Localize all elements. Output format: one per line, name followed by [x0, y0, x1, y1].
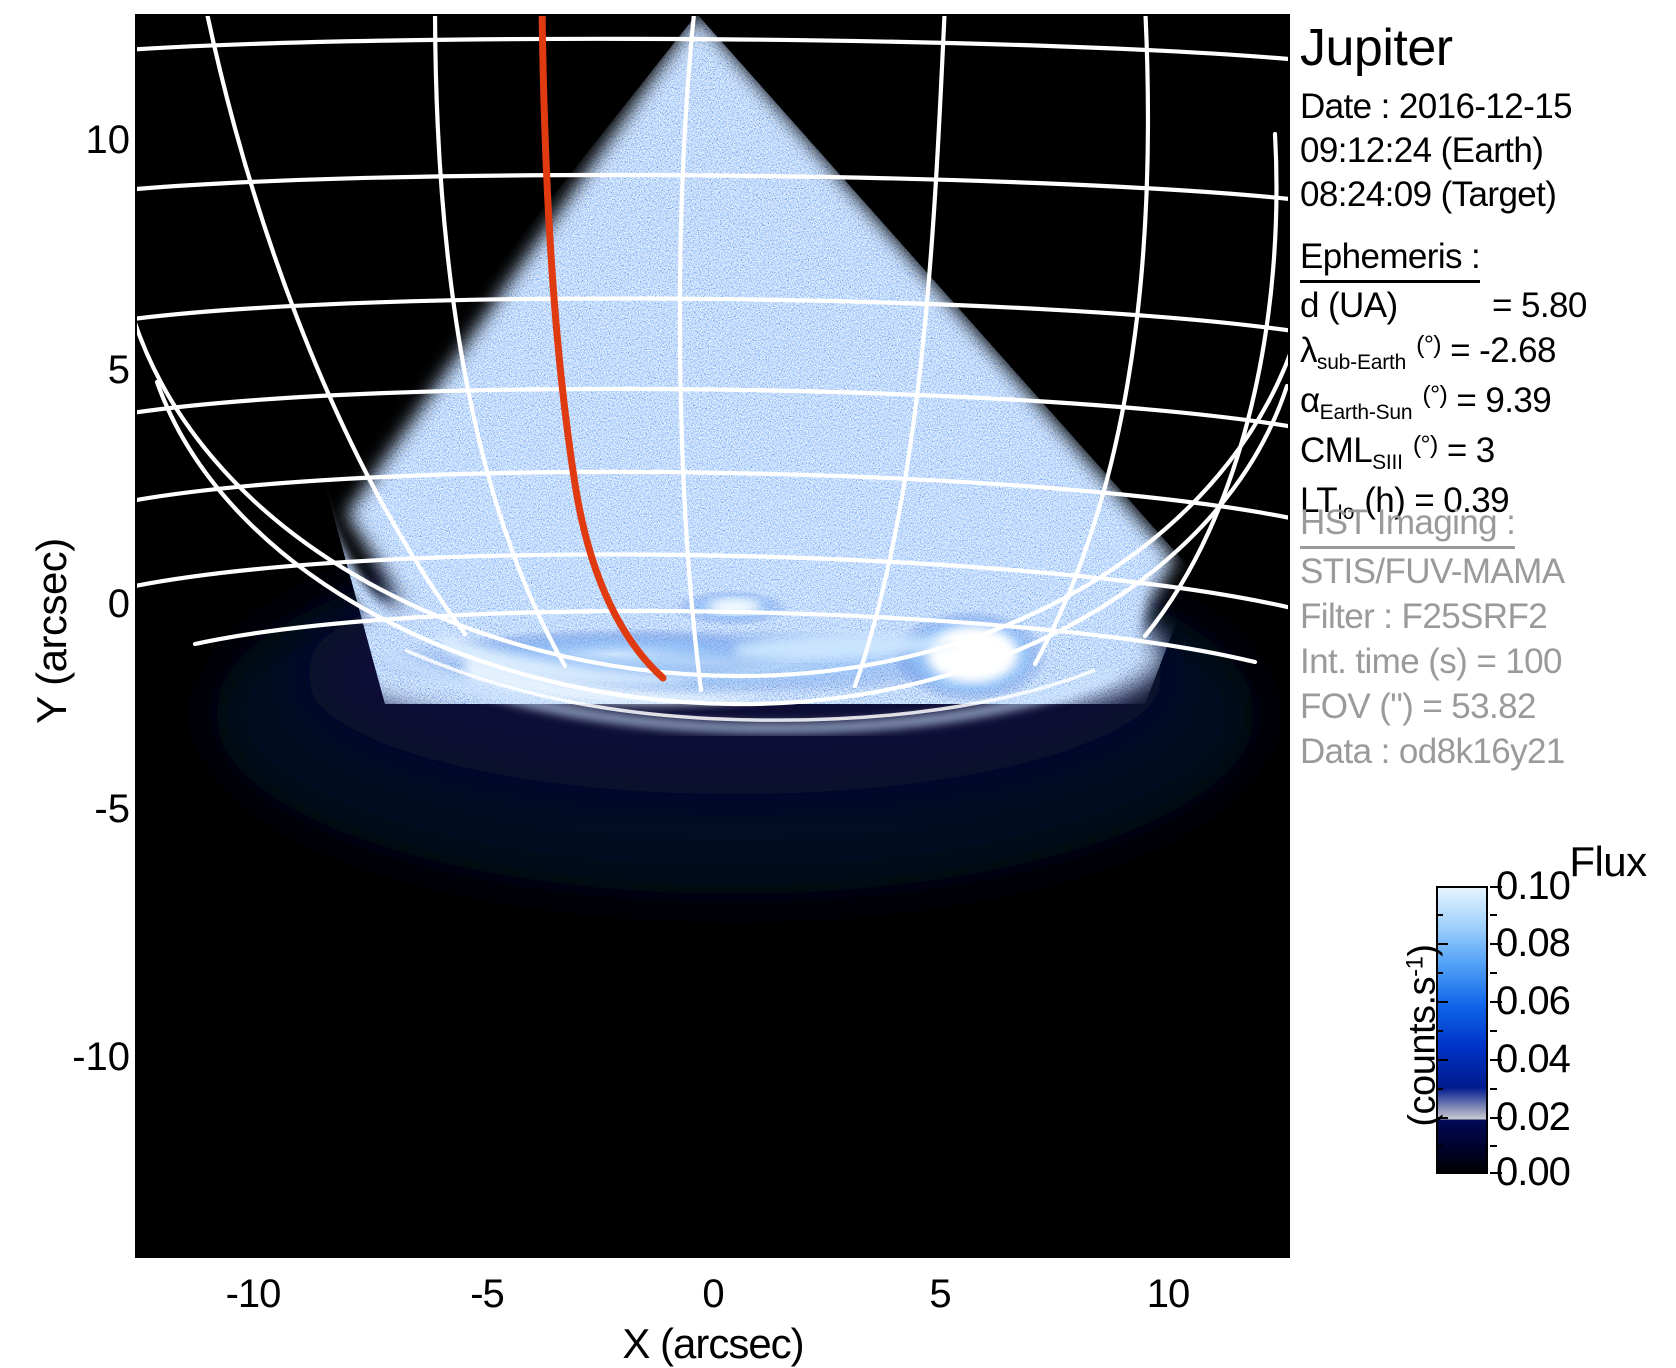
colorbar-label-004: 0.04 [1496, 1039, 1570, 1079]
ephemeris-row-alpha: αEarth-Sun(°) = 9.39 [1300, 378, 1587, 428]
x-tick-label-10: 10 [1108, 1272, 1228, 1317]
info-panel: Jupiter Date : 2016-12-15 09:12:24 (Eart… [1300, 0, 1676, 1368]
hst-data-id: Data : od8k16y21 [1300, 729, 1565, 774]
ephemeris-value-cml: = 3 [1447, 428, 1495, 473]
ephemeris-sub-lambda: sub-Earth [1317, 351, 1406, 374]
ephemeris-unit-lambda: (°) [1416, 331, 1441, 359]
x-axis-title: X (arcsec) [493, 1320, 933, 1368]
colorbar-axis-title-exponent: -1 [1402, 957, 1429, 977]
ephemeris-block: Ephemeris : d (UA)= 5.80 λsub-Earth(°) =… [1300, 234, 1587, 528]
hst-fov: FOV (") = 53.82 [1300, 684, 1565, 729]
colorbar-tick-010-l [1436, 886, 1448, 888]
hst-heading: HST Imaging : [1300, 500, 1515, 549]
target-title: Jupiter [1300, 18, 1453, 78]
colorbar-minor-tick [1490, 972, 1497, 974]
colorbar-axis-title-base: (counts.s [1402, 977, 1444, 1127]
ephemeris-row-distance: d (UA)= 5.80 [1300, 283, 1587, 328]
date-line: Date : 2016-12-15 [1300, 85, 1572, 129]
earth-time-line: 09:12:24 (Earth) [1300, 129, 1572, 173]
hst-imaging-block: HST Imaging : STIS/FUV-MAMA Filter : F25… [1300, 500, 1565, 774]
ephemeris-value-alpha: = 9.39 [1456, 378, 1551, 423]
ephemeris-unit-alpha: (°) [1422, 381, 1447, 409]
colorbar-minor-tick [1490, 1145, 1497, 1147]
y-tick-label-10: 10 [0, 118, 130, 163]
colorbar-label-008: 0.08 [1496, 923, 1570, 963]
ephemeris-sub-alpha: Earth-Sun [1320, 401, 1413, 424]
colorbar-label-002: 0.02 [1496, 1097, 1570, 1137]
hst-int-time: Int. time (s) = 100 [1300, 639, 1565, 684]
y-axis-title: Y (arcsec) [28, 451, 76, 811]
target-time-line: 08:24:09 (Target) [1300, 173, 1572, 217]
colorbar-minor-tick [1490, 1088, 1497, 1090]
ephemeris-row-lambda: λsub-Earth(°) = -2.68 [1300, 328, 1587, 378]
colorbar-minor-tick [1490, 914, 1497, 916]
x-tick-label-neg5: -5 [427, 1272, 547, 1317]
aurora-image-plot [135, 14, 1290, 1258]
y-tick-label-5: 5 [0, 348, 130, 393]
ephemeris-row-cml: CMLSIII(°) = 3 [1300, 428, 1587, 478]
colorbar-axis-title: (counts.s-1) [1402, 891, 1445, 1181]
ephemeris-label-cml: CML [1300, 428, 1372, 473]
ephemeris-value-lambda: = -2.68 [1450, 328, 1556, 373]
aurora-image-svg [135, 14, 1290, 1258]
colorbar-label-006: 0.06 [1496, 981, 1570, 1021]
ephemeris-label-lambda: λ [1300, 328, 1317, 373]
x-tick-label-5: 5 [880, 1272, 1000, 1317]
hst-instrument: STIS/FUV-MAMA [1300, 549, 1565, 594]
hst-filter: Filter : F25SRF2 [1300, 594, 1565, 639]
ephemeris-label-alpha: α [1300, 378, 1320, 423]
ephemeris-label-d: d (UA) [1300, 283, 1492, 328]
x-tick-label-0: 0 [653, 1272, 773, 1317]
y-tick-label-neg10: -10 [0, 1035, 130, 1080]
ephemeris-heading: Ephemeris : [1300, 234, 1480, 283]
ephemeris-value-d: = 5.80 [1492, 283, 1587, 328]
ephemeris-unit-cml: (°) [1413, 431, 1438, 459]
colorbar-label-000: 0.00 [1496, 1152, 1570, 1192]
x-tick-label-neg10: -10 [193, 1272, 313, 1317]
colorbar-axis-title-close: ) [1402, 944, 1444, 956]
observation-date-block: Date : 2016-12-15 09:12:24 (Earth) 08:24… [1300, 85, 1572, 217]
colorbar-label-010: 0.10 [1496, 866, 1570, 906]
ephemeris-sub-cml: SIII [1372, 451, 1403, 474]
colorbar-minor-tick [1490, 1030, 1497, 1032]
